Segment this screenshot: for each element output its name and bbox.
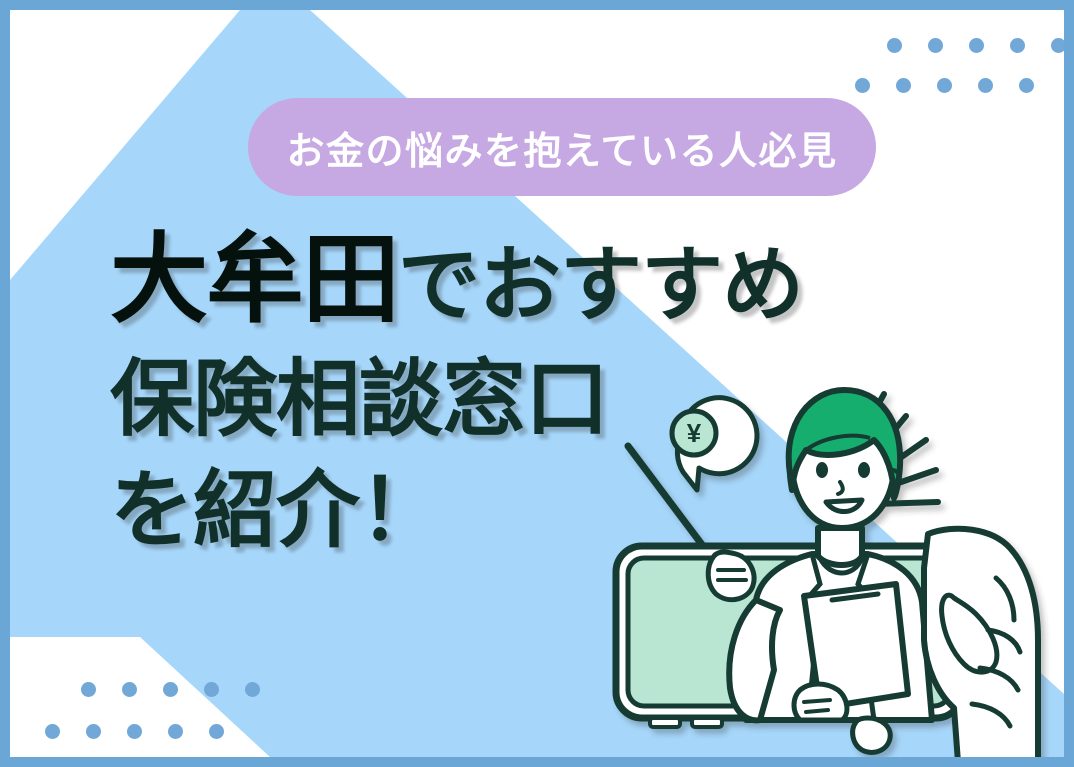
decorative-dots-bottom-left xyxy=(45,682,265,752)
badge-text: お金の悩みを抱えている人必見 xyxy=(286,120,837,175)
headline-city-name: 大牟田 xyxy=(110,224,398,334)
decorative-dot xyxy=(1019,78,1034,93)
eye-left xyxy=(816,462,828,478)
headline-line-1-suffix: でおすすめ xyxy=(398,240,803,331)
decorative-dot xyxy=(204,682,219,697)
decorative-dot xyxy=(122,682,137,697)
decorative-dot xyxy=(978,78,993,93)
decorative-dot xyxy=(86,724,101,739)
decorative-dot xyxy=(45,724,60,739)
decorative-dot xyxy=(855,78,870,93)
decorative-dot xyxy=(969,38,984,53)
illustration: ¥ xyxy=(606,378,1064,757)
decorative-dot xyxy=(1010,38,1025,53)
poster-inner-area: お金の悩みを抱えている人必見 大牟田でおすすめ 保険相談窓口 を紹介！ xyxy=(10,10,1064,757)
badge-pill: お金の悩みを抱えている人必見 xyxy=(248,98,876,196)
yen-speech-bubble-icon: ¥ xyxy=(672,398,757,490)
eye-right xyxy=(858,462,870,478)
yen-symbol: ¥ xyxy=(687,418,702,448)
decorative-dot xyxy=(928,38,943,53)
decorative-dot xyxy=(209,724,224,739)
decorative-dot xyxy=(127,724,142,739)
decorative-dot xyxy=(1051,38,1064,53)
decorative-dot xyxy=(937,78,952,93)
decorative-dot xyxy=(81,682,96,697)
decorative-dots-top-right xyxy=(855,38,1055,98)
headline-line-1: 大牟田でおすすめ xyxy=(110,215,930,344)
decorative-dot xyxy=(896,78,911,93)
decorative-dot xyxy=(168,724,183,739)
decorative-dot xyxy=(163,682,178,697)
poster-canvas: お金の悩みを抱えている人必見 大牟田でおすすめ 保険相談窓口 を紹介！ xyxy=(0,0,1074,767)
decorative-dot xyxy=(887,38,902,53)
decorative-dot xyxy=(245,682,260,697)
